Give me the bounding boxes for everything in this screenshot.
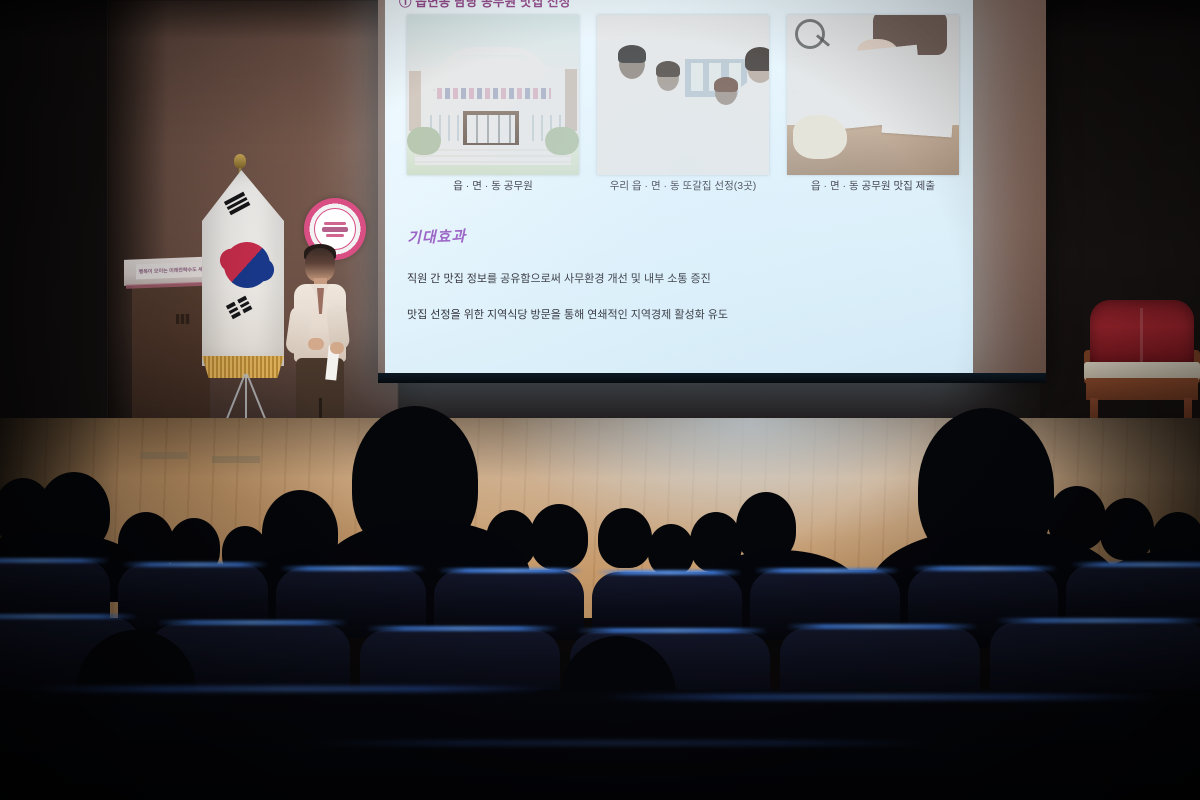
seat-light-strip (996, 618, 1200, 623)
flag-finial (234, 154, 246, 168)
staff-meeting-photo (597, 15, 769, 175)
building-roof-inner (441, 55, 545, 79)
meeting-person-2-body (645, 91, 687, 135)
meeting-person-4-hair (745, 47, 769, 71)
photo-caption: 읍 · 면 · 동 공무원 (407, 178, 579, 193)
seat-light-strip (0, 614, 138, 619)
document-text-line (809, 91, 901, 93)
podium-vent (176, 314, 190, 324)
shrub-right (545, 127, 579, 155)
building-entrance-glass (467, 115, 515, 143)
slide-title-clip: ① 읍면동 담당 공무원 맛집 선정 (385, 0, 973, 15)
seat-light-strip (280, 566, 426, 571)
meeting-person-2-hair (656, 61, 680, 77)
meeting-person-3-hair (714, 77, 738, 92)
shrub-left (407, 127, 441, 155)
seat-light-strip (366, 626, 558, 631)
government-building-photo (407, 15, 579, 175)
presenter-left-hand (308, 338, 324, 350)
bench-drape-fold (1140, 308, 1143, 362)
slide-body-line: 맛집 선정을 위한 지역식당 방문을 통해 연쇄적인 지역경제 활성화 유도 (407, 306, 728, 322)
meeting-person-4-body (737, 81, 769, 139)
magnifier-icon (795, 19, 825, 49)
seat-light-strip (0, 558, 110, 563)
audience-head (1100, 498, 1154, 560)
seat-light-strip (1070, 562, 1200, 567)
seat-light-strip (912, 566, 1058, 571)
seat-light-strip (576, 628, 768, 633)
slide-body-line: 직원 간 맛집 정보를 공유함으로써 사무환경 개선 및 내부 소통 증진 (407, 270, 711, 286)
slide-photo-row (407, 15, 959, 175)
seat-light-strip (156, 620, 348, 625)
building-banner-text (437, 88, 551, 99)
seat-light-strip (122, 562, 268, 567)
photo-caption: 읍 · 면 · 동 공무원 맛집 제출 (787, 178, 959, 193)
presenter-right-hand (330, 342, 344, 354)
presentation-slide: ① 읍면동 담당 공무원 맛집 선정 (385, 0, 973, 375)
auditorium-scene: ① 읍면동 담당 공무원 맛집 선정 (0, 0, 1200, 800)
document-text-line (809, 71, 897, 73)
document-text-line (809, 81, 885, 83)
meeting-person-1-hair (618, 45, 646, 63)
foreground-seat-light (300, 740, 940, 746)
seat-light-strip (754, 568, 900, 573)
seat-light-strip (596, 570, 742, 575)
presenter-head (305, 248, 335, 282)
photo-caption: 우리 읍 · 면 · 동 또갈집 선정(3곳) (597, 178, 769, 193)
screen-bottom-bar (378, 373, 1046, 383)
document-review-photo (787, 15, 959, 175)
foreground-seat-light (600, 694, 1160, 700)
section-heading: 기대효과 (407, 225, 467, 248)
document-text-line (891, 107, 939, 109)
slide-title: ① 읍면동 담당 공무원 맛집 선정 (399, 0, 570, 10)
document-sheet-2 (882, 91, 955, 138)
seat-light-strip (786, 624, 978, 629)
slide-captions: 읍 · 면 · 동 공무원 우리 읍 · 면 · 동 또갈집 선정(3곳) 읍 … (407, 178, 959, 193)
audience-head (530, 504, 588, 570)
audience-head (598, 508, 652, 568)
bench-apron (1086, 378, 1198, 400)
foreground-seat-light (30, 686, 550, 692)
submitter-hand (793, 115, 847, 159)
seat-light-strip (438, 568, 584, 573)
left-dark-wall (0, 0, 112, 420)
audience-head (648, 524, 694, 576)
